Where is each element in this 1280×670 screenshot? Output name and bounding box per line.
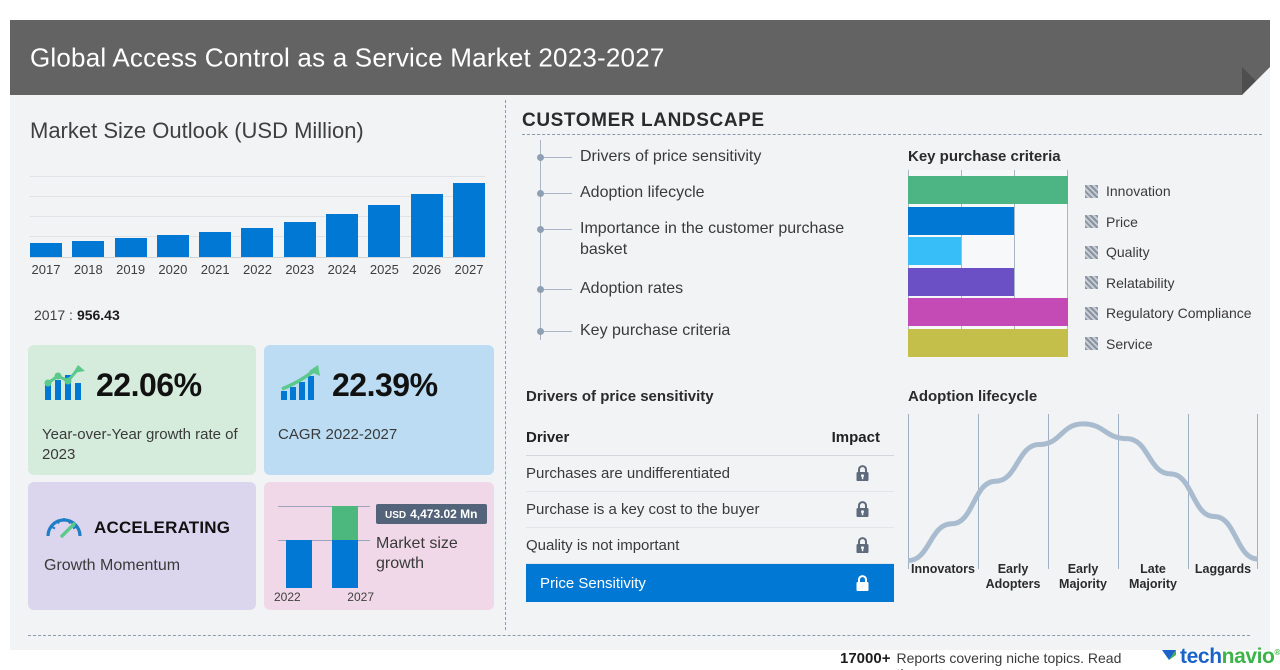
customer-landscape-item[interactable]: Adoption rates <box>540 278 683 299</box>
kpc-bar <box>908 268 1014 296</box>
bullet-dot-icon <box>537 154 544 161</box>
bar <box>115 238 147 257</box>
bullet-dot-icon <box>537 226 544 233</box>
connector-line <box>544 157 572 158</box>
lifecycle-stage-label: LateMajority <box>1118 562 1188 592</box>
bar-x-label: 2021 <box>199 262 231 277</box>
momentum-row: ACCELERATING <box>44 510 230 545</box>
legend-label: Regulatory Compliance <box>1106 305 1252 321</box>
driver-label: Price Sensitivity <box>540 575 646 592</box>
connector-line <box>544 289 572 290</box>
market-size-badge: USD4,473.02 Mn <box>376 504 487 524</box>
kpc-bar-track <box>908 176 1068 204</box>
bar-x-label: 2025 <box>368 262 400 277</box>
card-yoy-growth[interactable]: 22.06% Year-over-Year growth rate of 202… <box>28 345 256 475</box>
bar-column <box>453 183 485 257</box>
momentum-caption: Growth Momentum <box>44 557 180 575</box>
key-purchase-criteria-title: Key purchase criteria <box>908 148 1061 165</box>
lifecycle-stage-label: Laggards <box>1188 562 1258 592</box>
kpc-bar <box>908 176 1068 204</box>
kpc-bar <box>908 207 1014 235</box>
bar-x-label: 2027 <box>453 262 485 277</box>
bar-column <box>411 194 443 257</box>
legend-swatch-icon <box>1085 215 1098 228</box>
bar-column <box>368 205 400 257</box>
header-bar: Global Access Control as a Service Marke… <box>10 20 1270 95</box>
bar-column <box>157 235 189 257</box>
bar-x-label: 2026 <box>411 262 443 277</box>
kpi-row: 22.06% <box>42 363 202 408</box>
bar-x-label: 2018 <box>72 262 104 277</box>
mini-chart-x-labels: 2022 2027 <box>274 590 374 604</box>
lifecycle-stage-label: EarlyAdopters <box>978 562 1048 592</box>
customer-landscape-item-label: Key purchase criteria <box>580 320 730 341</box>
lifecycle-stage-label: Innovators <box>908 562 978 592</box>
kpc-bar-track <box>908 237 1068 265</box>
drivers-table: Driver Impact Purchases are undifferenti… <box>526 420 894 602</box>
table-row[interactable]: Purchases are undifferentiated <box>526 456 894 492</box>
bar-column <box>30 243 62 257</box>
legend-item: Relatability <box>1085 268 1275 299</box>
mini-label-start: 2022 <box>274 590 301 604</box>
legend-swatch-icon <box>1085 185 1098 198</box>
market-size-section-title: Market Size Outlook (USD Million) <box>30 118 364 144</box>
driver-label: Quality is not important <box>526 537 679 554</box>
legend-swatch-icon <box>1085 246 1098 259</box>
lifecycle-stage-label: EarlyMajority <box>1048 562 1118 592</box>
footer-divider <box>28 635 1250 636</box>
mini-bar-series <box>278 498 370 588</box>
annotation-value: 956.43 <box>77 307 120 323</box>
column-header-impact: Impact <box>832 429 880 446</box>
lock-icon[interactable] <box>844 465 880 482</box>
driver-label: Purchases are undifferentiated <box>526 465 730 482</box>
card-growth-momentum[interactable]: ACCELERATING Growth Momentum <box>28 482 256 610</box>
card-cagr[interactable]: 22.39% CAGR 2022-2027 <box>264 345 494 475</box>
column-header-driver: Driver <box>526 429 569 446</box>
key-purchase-criteria-chart <box>908 170 1068 355</box>
bar-column <box>115 238 147 257</box>
bar <box>284 222 316 257</box>
technavio-logo[interactable]: technavio® <box>1161 645 1280 669</box>
cagr-caption: CAGR 2022-2027 <box>278 425 397 445</box>
bar-x-label: 2020 <box>157 262 189 277</box>
kpc-bar-track <box>908 268 1068 296</box>
bar <box>72 241 104 257</box>
technavio-mark-icon <box>1161 646 1180 668</box>
mini-label-end: 2027 <box>347 590 374 604</box>
bar-2027 <box>332 506 358 588</box>
bar-column <box>199 232 231 257</box>
card-market-size-growth[interactable]: 2022 2027 USD4,473.02 Mn Market size gro… <box>264 482 494 610</box>
table-row[interactable]: Price Sensitivity <box>526 564 894 602</box>
bar <box>241 228 273 257</box>
legend-item: Quality <box>1085 237 1275 268</box>
market-size-bar-chart <box>30 176 485 258</box>
kpc-bar <box>908 237 961 265</box>
connector-line <box>544 193 572 194</box>
cagr-value: 22.39% <box>332 367 438 404</box>
adoption-lifecycle-chart <box>908 414 1258 569</box>
legend-swatch-icon <box>1085 276 1098 289</box>
bullet-dot-icon <box>537 286 544 293</box>
key-purchase-criteria-legend: InnovationPriceQualityRelatabilityRegula… <box>1085 176 1275 359</box>
logo-text-tech: tech <box>1180 645 1222 668</box>
yoy-value: 22.06% <box>96 367 202 404</box>
table-header-row: Driver Impact <box>526 420 894 456</box>
table-row[interactable]: Purchase is a key cost to the buyer <box>526 492 894 528</box>
bar-2022 <box>286 540 312 588</box>
legend-item: Service <box>1085 329 1275 360</box>
bar-x-label: 2017 <box>30 262 62 277</box>
customer-landscape-item-label: Drivers of price sensitivity <box>580 146 761 167</box>
kpc-bar-track <box>908 207 1068 235</box>
adoption-lifecycle-x-labels: InnovatorsEarlyAdoptersEarlyMajorityLate… <box>908 562 1258 592</box>
market-size-caption: Market size growth <box>376 534 494 574</box>
bar-x-label: 2023 <box>284 262 316 277</box>
kpc-bar <box>908 329 1068 357</box>
badge-currency: USD <box>385 510 406 521</box>
bar-x-label: 2024 <box>326 262 358 277</box>
adoption-lifecycle-title: Adoption lifecycle <box>908 388 1037 405</box>
yoy-caption: Year-over-Year growth rate of 2023 <box>42 425 256 464</box>
bar <box>30 243 62 257</box>
bullet-dot-icon <box>537 328 544 335</box>
legend-label: Innovation <box>1106 183 1171 199</box>
legend-label: Price <box>1106 214 1138 230</box>
footer-report-count: 17000+ <box>840 650 890 667</box>
legend-item: Regulatory Compliance <box>1085 298 1275 329</box>
bar <box>199 232 231 257</box>
corner-fold-icon <box>1242 67 1270 95</box>
kpc-bar-track <box>908 298 1068 326</box>
footer: 17000+ Reports covering niche topics. Re… <box>840 645 1280 670</box>
connector-line <box>544 229 572 230</box>
bar-column <box>326 214 358 257</box>
kpi-row: 22.39% <box>278 363 438 408</box>
page-title: Global Access Control as a Service Marke… <box>30 42 665 73</box>
legend-label: Service <box>1106 336 1153 352</box>
legend-swatch-icon <box>1085 337 1098 350</box>
kpc-bar-track <box>908 329 1068 357</box>
customer-landscape-item-label: Importance in the customer purchase bask… <box>580 218 880 261</box>
bar <box>157 235 189 257</box>
bar-chart-arrow-icon <box>278 363 322 408</box>
bar-column <box>284 222 316 257</box>
column-divider <box>505 100 506 630</box>
customer-landscape-item[interactable]: Adoption lifecycle <box>540 182 705 203</box>
logo-trademark: ® <box>1275 648 1280 657</box>
connector-line <box>544 331 572 332</box>
badge-value: 4,473.02 Mn <box>410 507 477 521</box>
bar-x-label: 2022 <box>241 262 273 277</box>
bar-chart-x-labels: 2017201820192020202120222023202420252026… <box>30 262 485 277</box>
chart-annotation: 2017 :956.43 <box>34 307 120 323</box>
footer-text: Reports covering niche topics. Read them… <box>896 650 1151 670</box>
kpc-bar <box>908 298 1068 326</box>
customer-landscape-title: CUSTOMER LANDSCAPE <box>522 110 765 132</box>
legend-label: Relatability <box>1106 275 1174 291</box>
table-row[interactable]: Quality is not important <box>526 528 894 564</box>
market-size-growth-chart <box>278 498 370 588</box>
infographic-root: Global Access Control as a Service Marke… <box>0 0 1280 670</box>
legend-label: Quality <box>1106 244 1150 260</box>
bar-x-label: 2019 <box>115 262 147 277</box>
driver-label: Purchase is a key cost to the buyer <box>526 501 759 518</box>
bar <box>326 214 358 257</box>
legend-item: Price <box>1085 207 1275 238</box>
momentum-status: ACCELERATING <box>94 518 230 538</box>
drivers-table-title: Drivers of price sensitivity <box>526 388 714 405</box>
speedometer-icon <box>44 510 84 545</box>
bell-curve-path <box>908 414 1258 569</box>
customer-landscape-item[interactable]: Key purchase criteria <box>540 320 730 341</box>
customer-landscape-item[interactable]: Drivers of price sensitivity <box>540 146 761 167</box>
title-underline <box>522 134 1262 135</box>
customer-landscape-item-label: Adoption rates <box>580 278 683 299</box>
legend-swatch-icon <box>1085 307 1098 320</box>
annotation-year: 2017 : <box>34 307 73 323</box>
logo-text-navio: navio <box>1222 645 1275 668</box>
bar-chart-up-icon <box>42 363 86 408</box>
bar-column <box>241 228 273 257</box>
customer-landscape-item-label: Adoption lifecycle <box>580 182 705 203</box>
bullet-dot-icon <box>537 190 544 197</box>
legend-item: Innovation <box>1085 176 1275 207</box>
bar-column <box>72 241 104 257</box>
lock-icon[interactable] <box>844 537 880 554</box>
lock-icon[interactable] <box>844 501 880 518</box>
bar <box>411 194 443 257</box>
bar <box>368 205 400 257</box>
lock-icon[interactable] <box>844 575 880 592</box>
customer-landscape-item[interactable]: Importance in the customer purchase bask… <box>540 218 880 261</box>
bar <box>453 183 485 257</box>
bar-series <box>30 176 485 258</box>
